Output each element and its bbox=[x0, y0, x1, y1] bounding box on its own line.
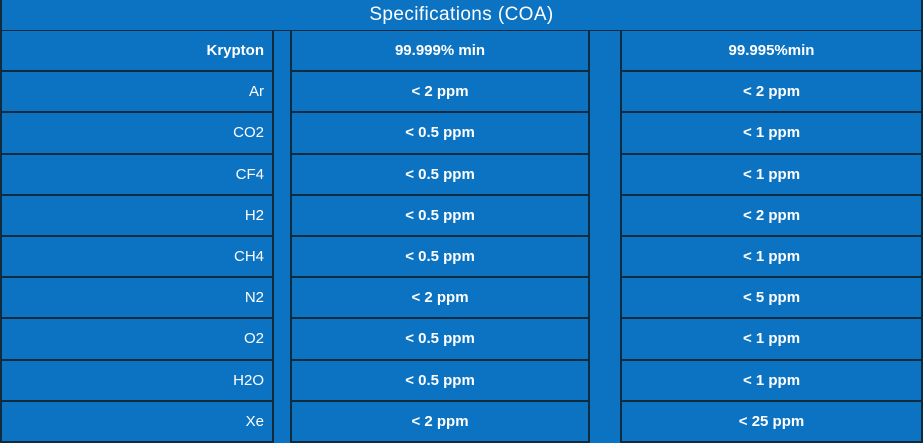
cell-component-name: Krypton bbox=[2, 31, 272, 70]
cell-grade-b-value: < 1 ppm bbox=[622, 113, 921, 152]
cell-component-name: H2O bbox=[2, 361, 272, 400]
specifications-table: Specifications (COA) Krypton99.999% min9… bbox=[0, 0, 923, 443]
cell-component-name: O2 bbox=[2, 319, 272, 358]
table-row: CH4< 0.5 ppm< 1 ppm bbox=[0, 237, 923, 278]
cell-grade-a-value: < 2 ppm bbox=[292, 402, 588, 441]
cell-grade-b-value: 99.995%min bbox=[622, 31, 921, 70]
cell-grade-b-value: < 25 ppm bbox=[622, 402, 921, 441]
table-row: Krypton99.999% min99.995%min bbox=[0, 31, 923, 72]
cell-grade-b-value: < 2 ppm bbox=[622, 196, 921, 235]
cell-component-name: Xe bbox=[2, 402, 272, 441]
cell-grade-a-value: < 0.5 ppm bbox=[292, 113, 588, 152]
table-row: CO2< 0.5 ppm< 1 ppm bbox=[0, 113, 923, 154]
cell-grade-a-value: < 0.5 ppm bbox=[292, 319, 588, 358]
cell-grade-a-value: 99.999% min bbox=[292, 31, 588, 70]
table-body: Krypton99.999% min99.995%minAr< 2 ppm< 2… bbox=[0, 31, 923, 443]
cell-grade-a-value: < 0.5 ppm bbox=[292, 237, 588, 276]
cell-component-name: Ar bbox=[2, 72, 272, 111]
table-row: Ar< 2 ppm< 2 ppm bbox=[0, 72, 923, 113]
cell-grade-b-value: < 5 ppm bbox=[622, 278, 921, 317]
cell-grade-a-value: < 0.5 ppm bbox=[292, 196, 588, 235]
cell-component-name: CO2 bbox=[2, 113, 272, 152]
table-row: H2< 0.5 ppm< 2 ppm bbox=[0, 196, 923, 237]
table-row: O2< 0.5 ppm< 1 ppm bbox=[0, 319, 923, 360]
page-title: Specifications (COA) bbox=[2, 0, 921, 30]
cell-grade-a-value: < 2 ppm bbox=[292, 278, 588, 317]
cell-component-name: H2 bbox=[2, 196, 272, 235]
cell-grade-a-value: < 2 ppm bbox=[292, 72, 588, 111]
cell-grade-b-value: < 1 ppm bbox=[622, 237, 921, 276]
table-row: CF4< 0.5 ppm< 1 ppm bbox=[0, 155, 923, 196]
cell-component-name: CH4 bbox=[2, 237, 272, 276]
cell-grade-a-value: < 0.5 ppm bbox=[292, 361, 588, 400]
cell-grade-a-value: < 0.5 ppm bbox=[292, 155, 588, 194]
table-row: Xe< 2 ppm< 25 ppm bbox=[0, 402, 923, 443]
cell-grade-b-value: < 1 ppm bbox=[622, 361, 921, 400]
cell-component-name: CF4 bbox=[2, 155, 272, 194]
cell-grade-b-value: < 2 ppm bbox=[622, 72, 921, 111]
cell-grade-b-value: < 1 ppm bbox=[622, 319, 921, 358]
table-row: H2O< 0.5 ppm< 1 ppm bbox=[0, 361, 923, 402]
cell-grade-b-value: < 1 ppm bbox=[622, 155, 921, 194]
cell-component-name: N2 bbox=[2, 278, 272, 317]
table-row: N2< 2 ppm< 5 ppm bbox=[0, 278, 923, 319]
